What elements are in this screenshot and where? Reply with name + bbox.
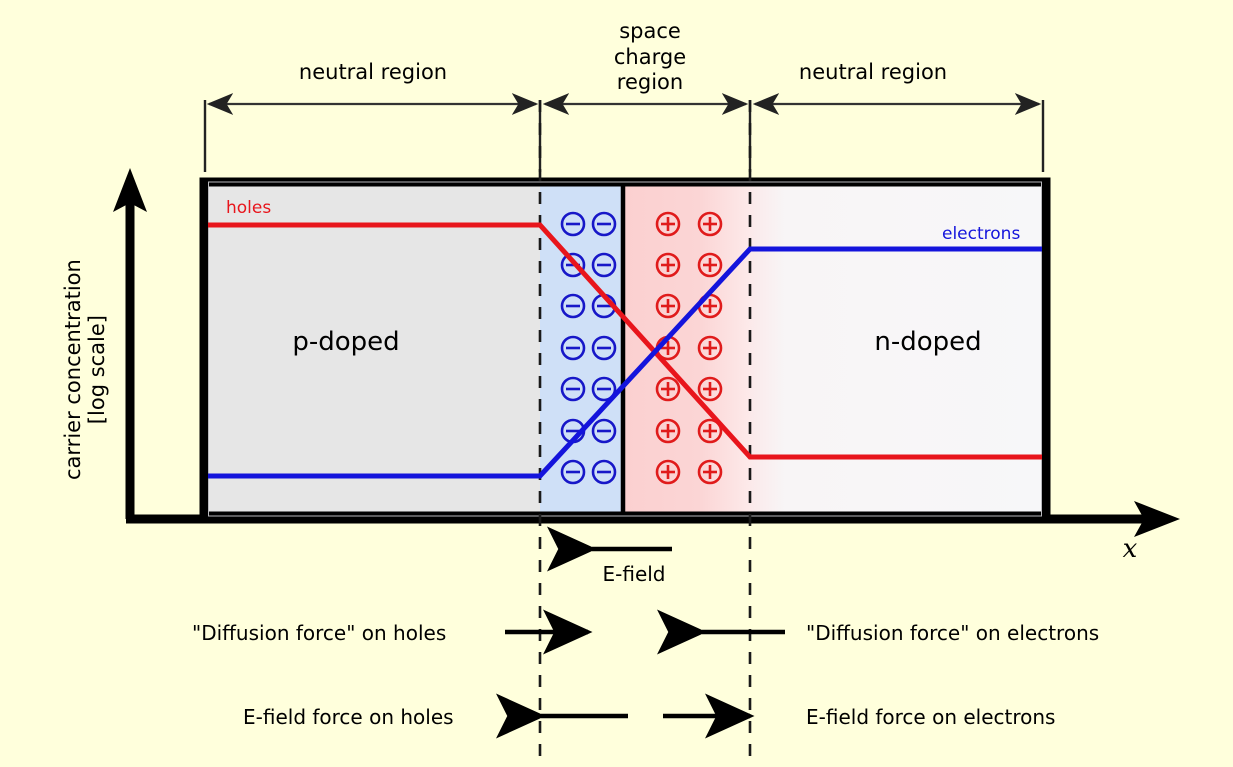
y-axis-label-line1: carrier concentration <box>61 259 85 480</box>
curve-label-electrons: electrons <box>942 224 1020 244</box>
y-axis-label-line2: [log scale] <box>85 315 109 424</box>
region-label-p-doped: p-doped <box>292 327 399 357</box>
efield-force-holes-label: E-field force on holes <box>243 705 454 729</box>
x-axis-label: x <box>1123 534 1138 564</box>
bracket-label-scr-line1: space <box>619 19 681 43</box>
efield-force-electrons-label: E-field force on electrons <box>806 705 1055 729</box>
bracket-label-neutral-left: neutral region <box>299 60 447 84</box>
curve-label-holes: holes <box>226 198 271 218</box>
diffusion-force-holes-label: "Diffusion force" on holes <box>192 621 446 645</box>
y-axis-label: carrier concentration [log scale] <box>62 259 109 480</box>
y-axis <box>113 168 147 519</box>
bracket-label-scr-line2: charge <box>614 45 686 69</box>
region-label-n-doped: n-doped <box>874 327 981 357</box>
bracket-label-scr-line3: region <box>617 70 683 94</box>
bracket-label-neutral-right: neutral region <box>799 60 947 84</box>
region-scr-positive-fill <box>623 182 750 516</box>
diffusion-force-electrons-label: "Diffusion force" on electrons <box>806 621 1099 645</box>
figure-canvas: carrier concentration [log scale] x neut… <box>0 0 1233 767</box>
bracket-label-space-charge: space charge region <box>614 19 686 96</box>
efield-label: E-field <box>602 562 665 586</box>
diagram-svg <box>0 0 1233 767</box>
bracket-ticks <box>205 100 1043 172</box>
